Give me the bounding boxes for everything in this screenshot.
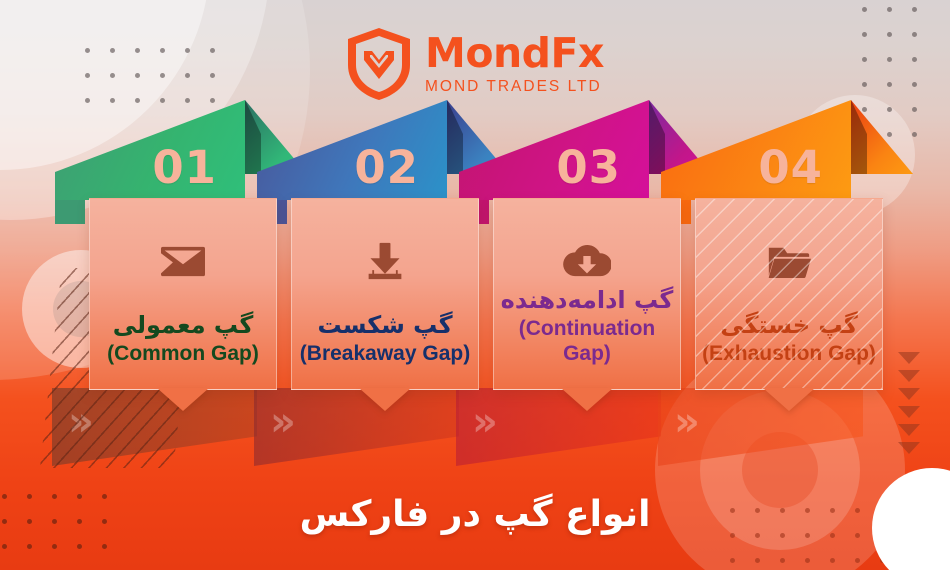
card-title-fa: گپ ادامه‌دهنده: [498, 286, 676, 315]
double-chevron-icon: »: [472, 402, 498, 442]
card-notch: [763, 388, 815, 411]
card-notch: [157, 388, 209, 411]
card-text-block: گپ ادامه‌دهنده (Continuation Gap): [498, 286, 676, 367]
logo-name: MondFx: [425, 33, 604, 74]
triangle-down-icon: [898, 388, 920, 400]
triangle-down-icon: [898, 352, 920, 364]
banner-number: 03: [556, 141, 621, 194]
gap-card-breakaway[interactable]: گپ شکست (Breakaway Gap): [291, 198, 479, 390]
dot: [912, 132, 917, 137]
triangle-down-icon: [898, 442, 920, 454]
ribbon-tail-04: »: [658, 388, 863, 466]
logo-tagline: MOND TRADES LTD: [425, 79, 604, 95]
infographic-canvas: MondFx MOND TRADES LTD 01 02 03 04 »: [0, 0, 950, 570]
banner-03: 03: [459, 100, 649, 200]
ribbon-tail-03: »: [456, 388, 661, 466]
dot: [862, 7, 867, 12]
download-icon: [292, 235, 478, 287]
dot: [27, 544, 32, 549]
triangle-down-icon: [898, 370, 920, 382]
card-notch: [561, 388, 613, 411]
triangle-down-icon: [898, 424, 920, 436]
dot: [52, 544, 57, 549]
double-chevron-icon: »: [674, 402, 700, 442]
gap-card-continuation[interactable]: گپ ادامه‌دهنده (Continuation Gap): [493, 198, 681, 390]
banner-number: 04: [758, 141, 823, 194]
double-chevron-icon: »: [270, 402, 296, 442]
dot: [102, 544, 107, 549]
dot: [887, 7, 892, 12]
card-title-en: (Common Gap): [94, 341, 272, 367]
cloud-download-icon: [494, 235, 680, 287]
card-notch: [359, 388, 411, 411]
card-title-fa: گپ شکست: [296, 311, 474, 340]
card-title-en: (Exhaustion Gap): [700, 341, 878, 367]
dot: [2, 544, 7, 549]
card-text-block: گپ خستگی (Exhaustion Gap): [700, 311, 878, 367]
card-title-en: (Continuation Gap): [498, 316, 676, 367]
dot: [912, 107, 917, 112]
triangle-down-icon: [898, 406, 920, 418]
page-title: انواع گپ در فارکس: [0, 494, 950, 535]
folder-icon: [696, 235, 882, 287]
banner-leg: [55, 200, 85, 224]
shield-check-icon: [346, 27, 412, 101]
dot: [912, 7, 917, 12]
banner-04: 04: [661, 100, 851, 200]
banner-number: 01: [152, 141, 217, 194]
card-title-fa: گپ خستگی: [700, 311, 878, 340]
banner-02: 02: [257, 100, 447, 200]
card-title-fa: گپ معمولی: [94, 311, 272, 340]
gap-card-exhaustion[interactable]: گپ خستگی (Exhaustion Gap): [695, 198, 883, 390]
brand-logo: MondFx MOND TRADES LTD: [0, 26, 950, 102]
envelope-icon: [90, 235, 276, 287]
banner-number: 02: [354, 141, 419, 194]
card-text-block: گپ معمولی (Common Gap): [94, 311, 272, 367]
gap-card-common[interactable]: گپ معمولی (Common Gap): [89, 198, 277, 390]
card-text-block: گپ شکست (Breakaway Gap): [296, 311, 474, 367]
card-title-en: (Breakaway Gap): [296, 341, 474, 367]
banner-01: 01: [55, 100, 245, 200]
triangle-column-icon: [898, 352, 920, 454]
dot: [77, 544, 82, 549]
ribbon-tail-02: »: [254, 388, 459, 466]
